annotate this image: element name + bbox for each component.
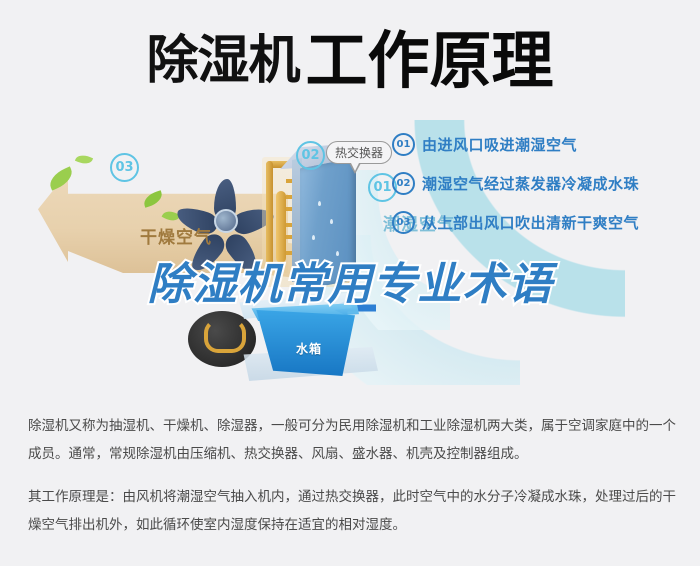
condensation-droplet: [330, 219, 333, 224]
body-copy: 除湿机又称为抽湿机、干燥机、除湿器，一般可分为民用除湿机和工业除湿机两大类，属于…: [28, 413, 676, 556]
infographic-page: 除湿机 工作原理: [0, 0, 700, 566]
leaf-icon: [75, 152, 93, 166]
badge-02: 02: [296, 141, 325, 170]
refrigerant-pipe: [276, 191, 286, 263]
list-item: 03 从上部出风口吹出清新干爽空气: [392, 211, 692, 234]
heat-exchanger-callout: 热交换器: [326, 141, 392, 164]
list-item: 02 潮湿空气经过蒸发器冷凝成水珠: [392, 172, 692, 195]
step-number: 01: [392, 133, 415, 156]
fan-illustration: [178, 173, 270, 265]
refrigerant-pipe: [266, 161, 273, 271]
condensation-droplet: [318, 201, 321, 206]
page-title-part2: 工作原理: [306, 30, 554, 92]
step-text: 从上部出风口吹出清新干爽空气: [422, 212, 639, 233]
step-text: 由进风口吸进潮湿空气: [422, 134, 577, 155]
fan-hub: [214, 209, 238, 233]
compressor-pipe: [204, 319, 246, 353]
paragraph-1: 除湿机又称为抽湿机、干燥机、除湿器，一般可分为民用除湿机和工业除湿机两大类，属于…: [28, 413, 676, 468]
paragraph-2: 其工作原理是：由风机将潮湿空气抽入机内，通过热交换器，此时空气中的水分子冷凝成水…: [28, 484, 676, 539]
badge-03: 03: [110, 153, 139, 182]
step-number: 03: [392, 211, 415, 234]
page-title-part1: 除湿机: [146, 35, 299, 87]
condensation-droplet: [312, 235, 315, 240]
list-item: 01 由进风口吸进潮湿空气: [392, 133, 692, 156]
overlay-headline: 除湿机常用专业术语: [0, 263, 700, 307]
page-title: 除湿机 工作原理: [0, 18, 700, 104]
condensation-droplet: [336, 251, 339, 256]
step-text: 潮湿空气经过蒸发器冷凝成水珠: [422, 173, 639, 194]
step-number: 02: [392, 172, 415, 195]
water-tank-label: 水箱: [296, 340, 322, 357]
overlay-headline-text: 除湿机常用专业术语: [148, 259, 553, 310]
steps-list: 01 由进风口吸进潮湿空气 02 潮湿空气经过蒸发器冷凝成水珠 03 从上部出风…: [392, 133, 692, 250]
dry-air-label: 干燥空气: [140, 223, 212, 248]
